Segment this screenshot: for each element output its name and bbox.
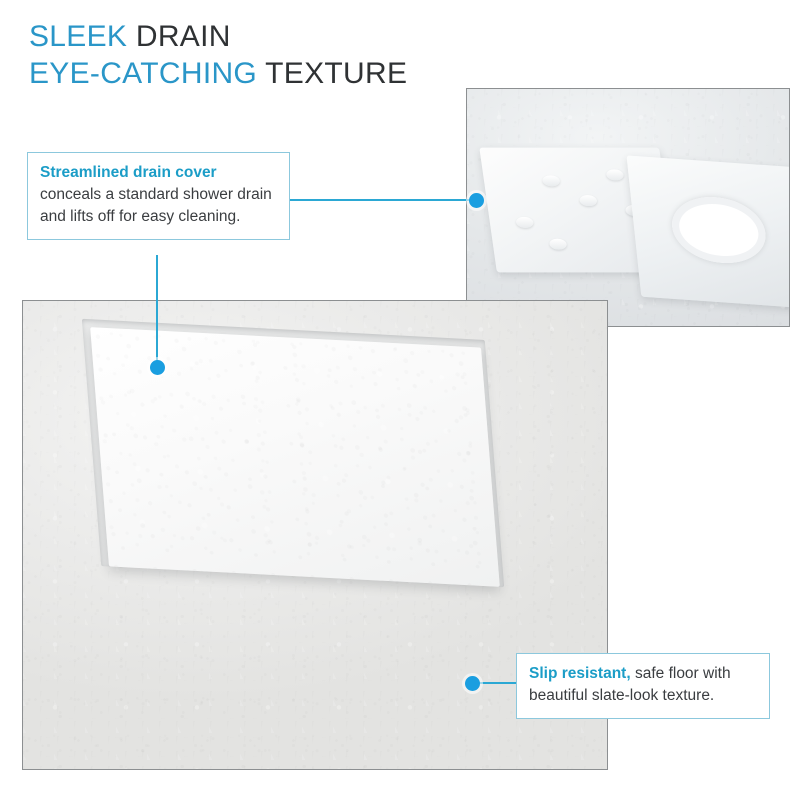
headline-line-2-accent: EYE-CATCHING [29, 57, 257, 90]
drain-base-plate [626, 155, 790, 308]
cover-nub [542, 175, 561, 186]
cover-nub [579, 195, 598, 206]
callout-drain-cover: Streamlined drain cover conceals a stand… [27, 152, 290, 240]
callout-drain-cover-text: Streamlined drain cover conceals a stand… [40, 162, 277, 228]
headline-line-2: EYE-CATCHING TEXTURE [29, 55, 549, 92]
page-title: SLEEK DRAIN EYE-CATCHING TEXTURE [29, 18, 549, 92]
cover-nub [549, 239, 568, 250]
callout-slip-resistant-lead: Slip resistant, [529, 665, 631, 682]
drain-opening [669, 194, 769, 266]
cover-nub [606, 169, 625, 180]
cover-nub [515, 217, 534, 228]
callout-drain-cover-body: conceals a standard shower drain and lif… [40, 186, 272, 225]
headline-line-1-accent: SLEEK [29, 20, 127, 53]
callout-slip-resistant-text: Slip resistant, safe floor with beautifu… [529, 663, 757, 707]
dot-marker-drain-cover [469, 193, 484, 208]
dot-marker-slip-texture [465, 676, 480, 691]
headline-line-2-rest: TEXTURE [257, 57, 407, 90]
headline-line-1-rest: DRAIN [127, 20, 230, 53]
connector-line-drain [290, 199, 476, 201]
connector-line-floor [156, 255, 158, 367]
dot-marker-floor-plate [150, 360, 165, 375]
callout-slip-resistant: Slip resistant, safe floor with beautifu… [516, 653, 770, 719]
headline-line-1: SLEEK DRAIN [29, 18, 549, 55]
callout-drain-cover-lead: Streamlined drain cover [40, 164, 217, 181]
photo-drain-detail [466, 88, 790, 327]
